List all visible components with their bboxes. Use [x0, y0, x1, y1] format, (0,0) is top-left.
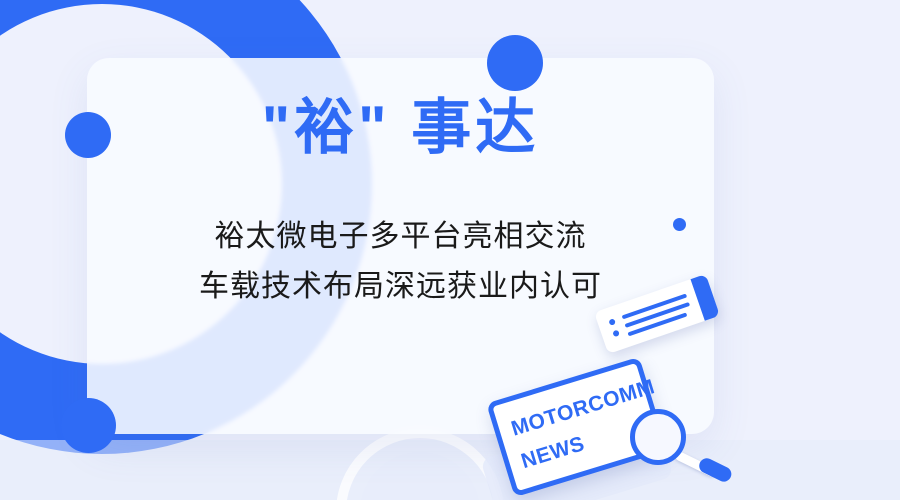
note-side-tab — [690, 274, 719, 321]
decor-dot-bottom-left-icon — [61, 398, 116, 453]
note-bullet-dot-icon — [608, 318, 616, 326]
subheadline-line-1: 裕太微电子多平台亮相交流 — [87, 212, 714, 262]
poster-subheadline: 裕太微电子多平台亮相交流 车载技术布局深远获业内认可 — [87, 212, 714, 312]
decor-dot-top-center-icon — [487, 35, 543, 91]
note-bullet-dot-icon — [612, 330, 620, 338]
magnifier-lens-icon — [630, 409, 686, 465]
poster-canvas: "裕" 事达 裕太微电子多平台亮相交流 车载技术布局深远获业内认可 MOTORC… — [0, 0, 900, 500]
ghost-ring-outline — [336, 428, 504, 500]
poster-headline: "裕" 事达 — [87, 98, 714, 158]
newspaper-title-line-2: NEWS — [519, 432, 588, 474]
